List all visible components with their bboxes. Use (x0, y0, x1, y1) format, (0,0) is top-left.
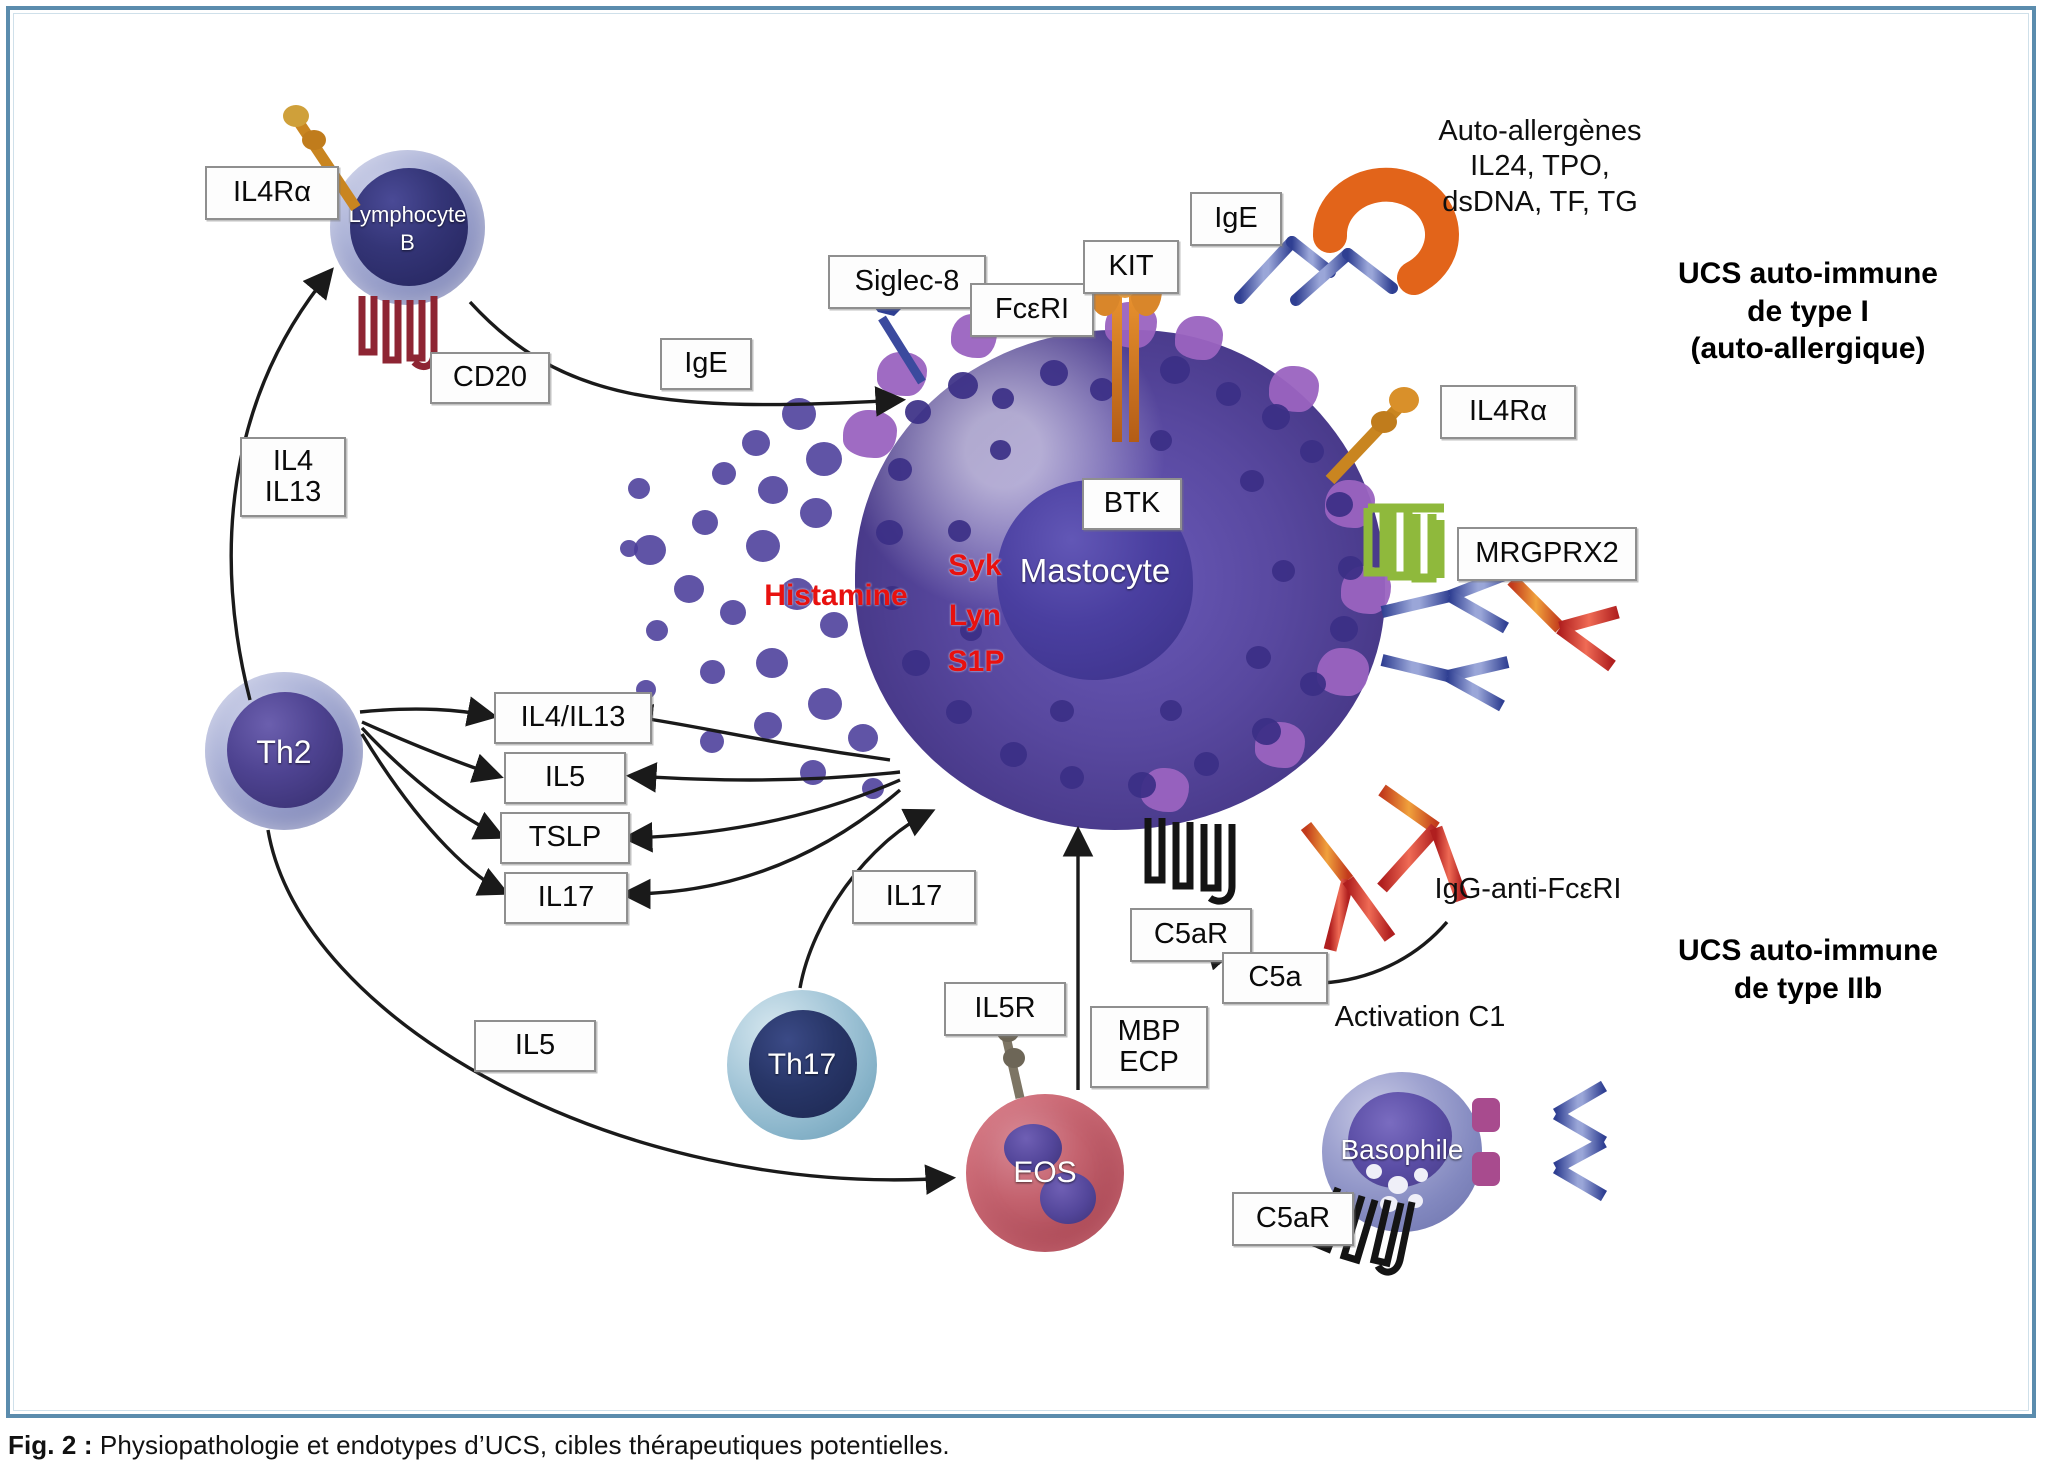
box-il5[interactable]: IL5 (504, 752, 626, 804)
figure-page: Lymphocyte B Th2 Th17 Mastocyte (0, 0, 2048, 1482)
fceri-nub-icon (877, 352, 927, 396)
box-fceri[interactable]: FcεRI (970, 283, 1094, 337)
box-mbp-line1: MBP (1118, 1016, 1181, 1047)
auto-allergenes-line2: IL24, TPO, (1330, 149, 1750, 184)
th2-nucleus (227, 692, 343, 808)
box-mrgprx2[interactable]: MRGPRX2 (1457, 527, 1637, 581)
box-il5r[interactable]: IL5R (944, 982, 1066, 1036)
fceri-nub-icon (1105, 302, 1157, 348)
box-mbp-ecp[interactable]: MBP ECP (1090, 1006, 1208, 1088)
activation-c1-label: Activation C1 (1300, 1000, 1540, 1035)
fceri-nub-icon (843, 410, 897, 458)
box-il4ra-lymphocyteb[interactable]: IL4Rα (205, 166, 339, 220)
figure-caption-text: Physiopathologie et endotypes d’UCS, cib… (100, 1430, 950, 1460)
box-il4-il13[interactable]: IL4/IL13 (494, 692, 652, 744)
box-siglec8[interactable]: Siglec-8 (828, 255, 986, 309)
box-il4ra-mastocyte[interactable]: IL4Rα (1440, 385, 1576, 439)
box-kit[interactable]: KIT (1083, 240, 1179, 294)
cell-lymphocyte-b: Lymphocyte B (330, 150, 485, 305)
box-c5ar-basophile[interactable]: C5aR (1232, 1192, 1354, 1246)
eos-nucleus-lobe (1004, 1124, 1062, 1172)
mastocyte-label: Mastocyte (997, 552, 1193, 590)
auto-allergenes-line3: dsDNA, TF, TG (1330, 185, 1750, 220)
box-cd20[interactable]: CD20 (430, 352, 550, 404)
box-il17-th17[interactable]: IL17 (852, 870, 976, 924)
cell-th17: Th17 (727, 990, 877, 1140)
cell-th2: Th2 (205, 672, 363, 830)
eos-nucleus-lobe (1040, 1172, 1096, 1224)
auto-allergenes-line1: Auto-allergènes (1330, 114, 1750, 149)
syk-label: Syk (930, 548, 1020, 583)
box-il5-bottom[interactable]: IL5 (474, 1020, 596, 1072)
box-c5a[interactable]: C5a (1222, 952, 1328, 1004)
histamine-label: Histamine (726, 578, 946, 613)
box-btk[interactable]: BTK (1082, 478, 1182, 530)
box-ige-lymphocyteb[interactable]: IgE (660, 338, 752, 390)
endotype-type2b: UCS auto-immune de type IIb (1608, 932, 2008, 1007)
box-il17[interactable]: IL17 (504, 872, 628, 924)
fceri-nub-icon (1175, 316, 1223, 360)
basophile-nucleus (1348, 1092, 1452, 1188)
lymphocyte-b-nucleus (350, 168, 468, 286)
figure-caption: Fig. 2 : Physiopathologie et endotypes d… (8, 1430, 1908, 1461)
box-ecp-line2: ECP (1119, 1047, 1179, 1078)
box-il4-line1: IL4 (273, 446, 313, 477)
igg-anti-fceri-label: IgG-anti-FcεRI (1388, 872, 1668, 907)
box-il4-il13-left[interactable]: IL4 IL13 (240, 437, 346, 517)
cell-eos: EOS (966, 1094, 1124, 1252)
box-tslp[interactable]: TSLP (500, 812, 630, 864)
th17-nucleus (749, 1010, 857, 1118)
box-ige-top[interactable]: IgE (1190, 192, 1282, 246)
auto-allergenes-block: Auto-allergènes IL24, TPO, dsDNA, TF, TG (1330, 114, 1750, 220)
endotype-type1-line1: UCS auto-immune (1608, 255, 2008, 293)
lyn-label: Lyn (930, 598, 1020, 633)
endotype-type2b-line1: UCS auto-immune (1608, 932, 2008, 970)
s1p-label: S1P (928, 644, 1024, 679)
endotype-type1-line3: (auto-allergique) (1608, 330, 2008, 368)
figure-label: Fig. 2 : (8, 1430, 93, 1460)
endotype-type1-line2: de type I (1608, 293, 2008, 331)
endotype-type2b-line2: de type IIb (1608, 970, 2008, 1008)
box-il13-line2: IL13 (265, 477, 321, 508)
endotype-type1: UCS auto-immune de type I (auto-allergiq… (1608, 255, 2008, 368)
